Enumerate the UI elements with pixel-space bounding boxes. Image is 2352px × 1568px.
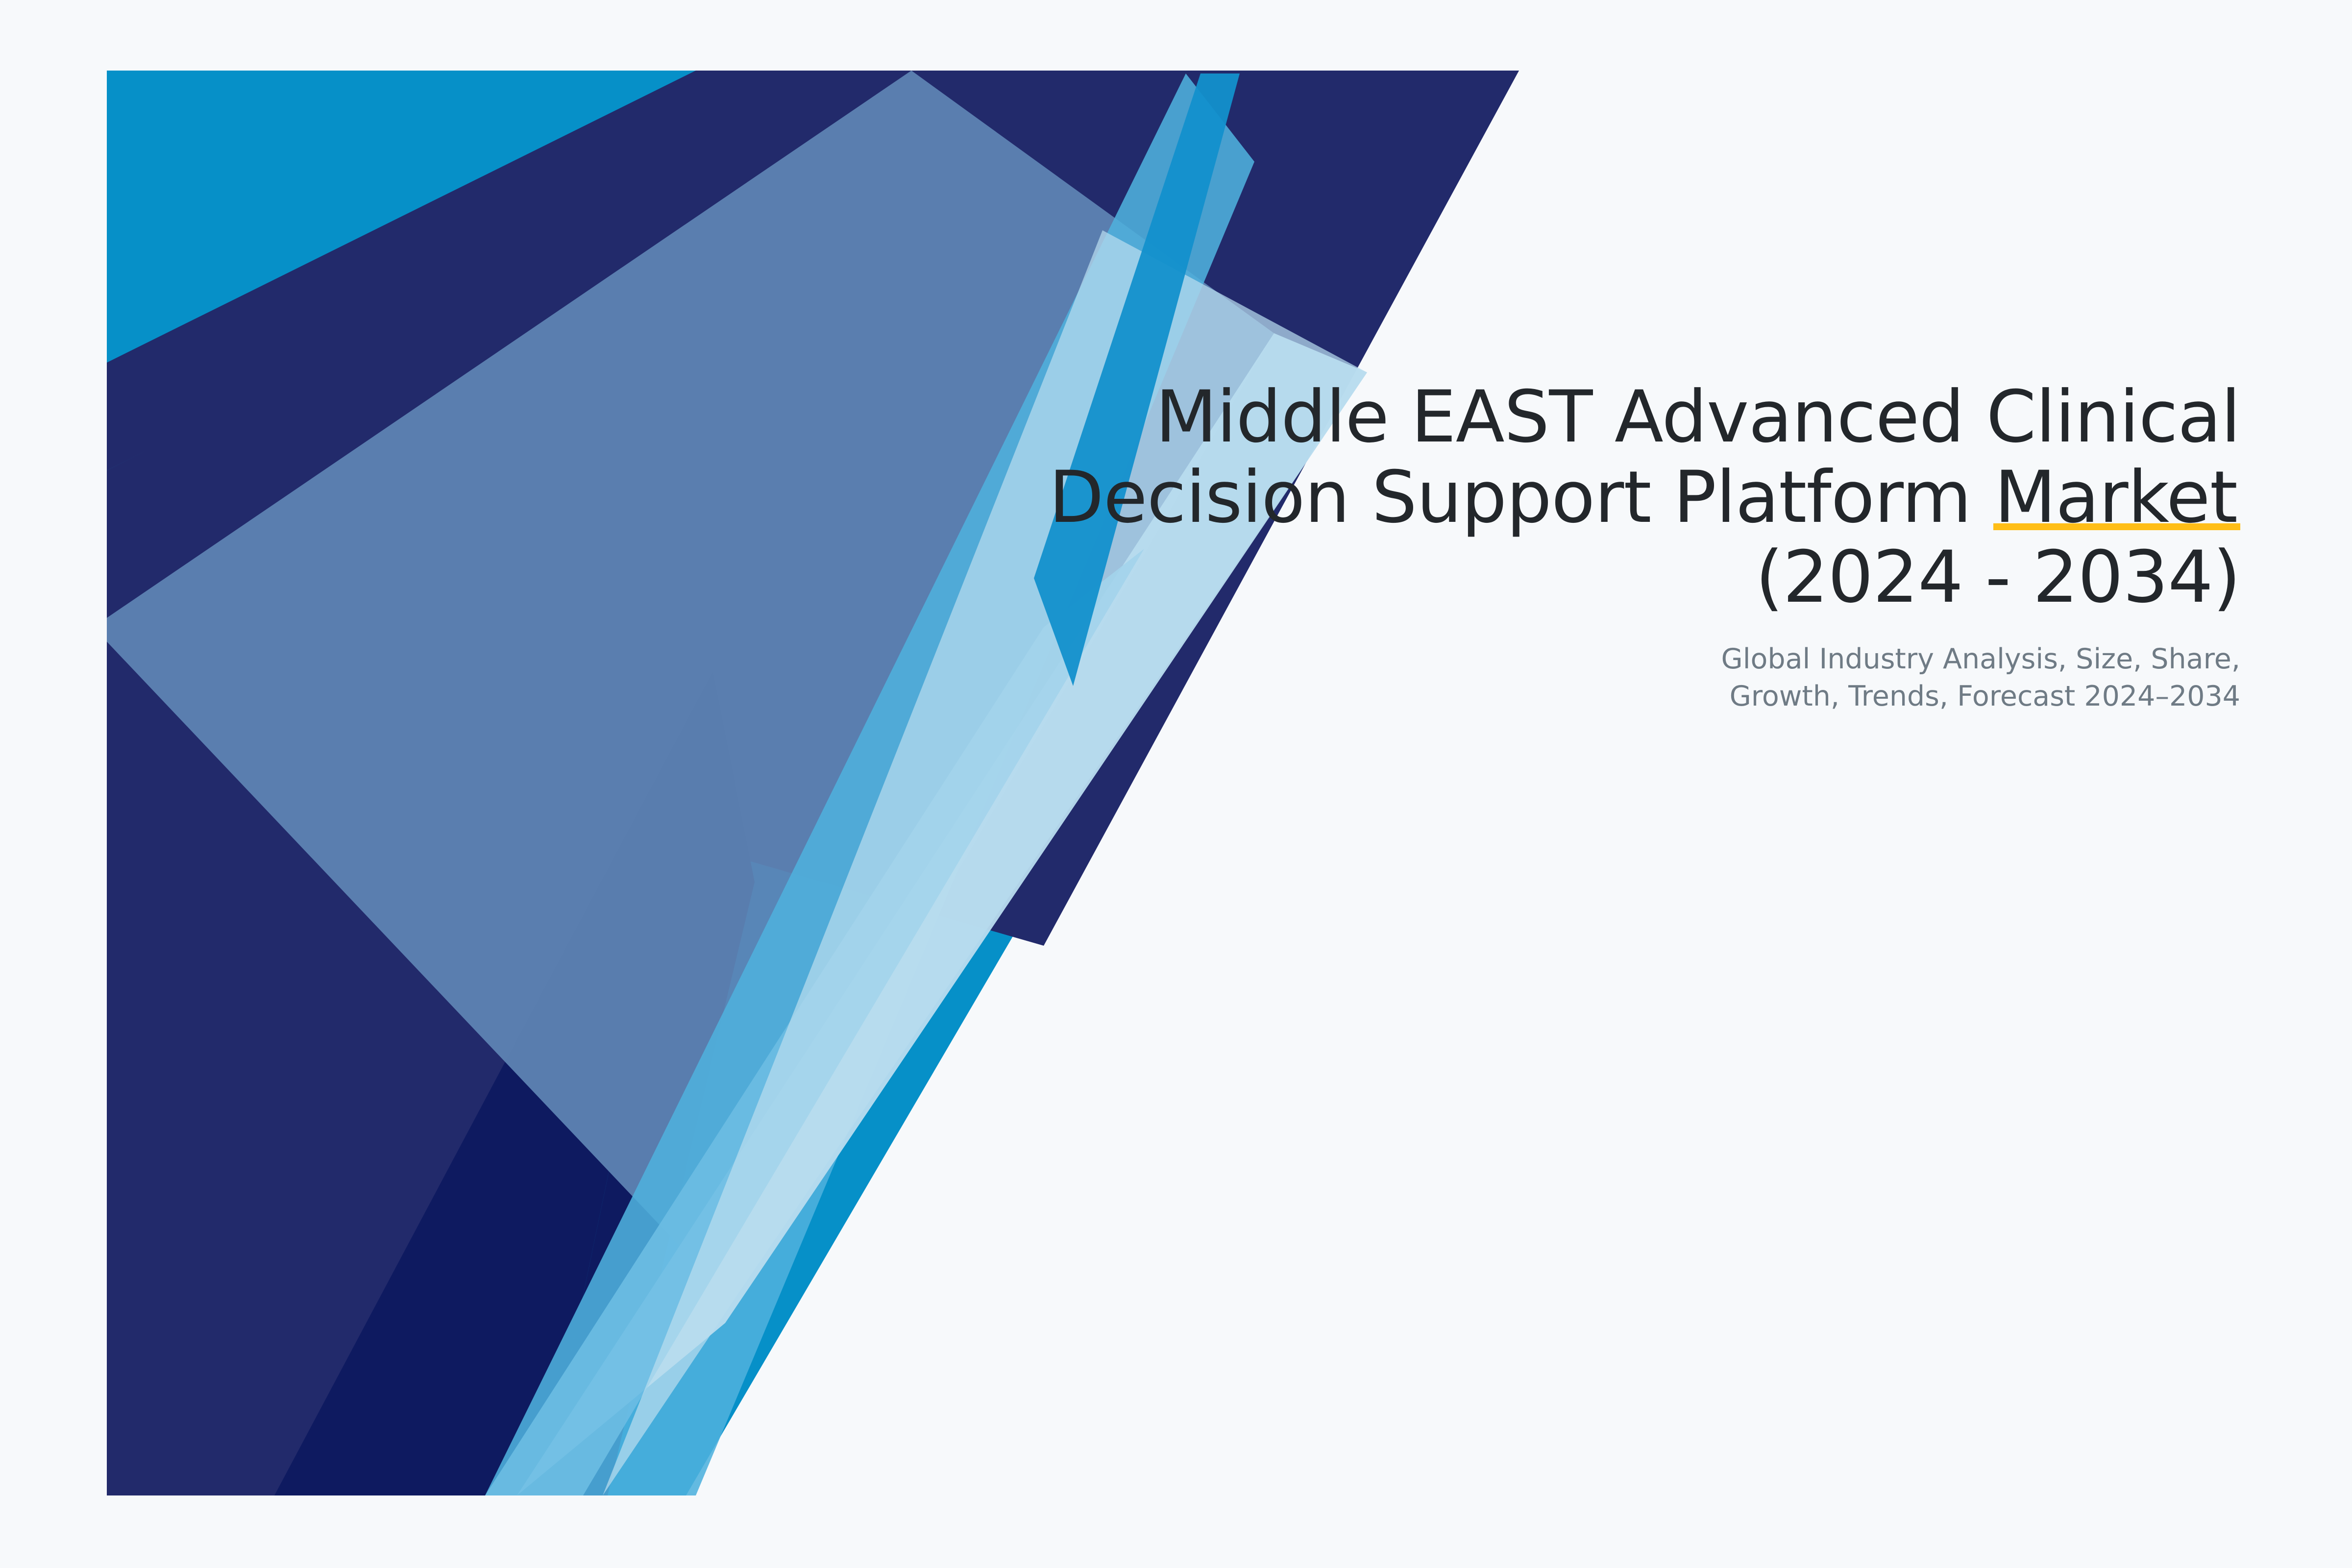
title-line-3: (2024 - 2034) bbox=[966, 538, 2240, 618]
subtitle-line-2: Growth, Trends, Forecast 2024–2034 bbox=[1730, 680, 2240, 712]
page-subtitle: Global Industry Analysis, Size, Share,Gr… bbox=[966, 640, 2240, 715]
abstract-polygon-cover-graphic bbox=[0, 0, 2352, 1568]
title-line-2-text: Decision Support Platform bbox=[1049, 456, 1993, 539]
title-highlight-market: Market bbox=[1993, 456, 2240, 539]
title-line-1: Middle EAST Advanced Clinical bbox=[966, 377, 2240, 458]
subtitle-line-1: Global Industry Analysis, Size, Share, bbox=[1721, 643, 2240, 675]
title-block: Middle EAST Advanced ClinicalDecision Su… bbox=[966, 377, 2240, 715]
page-title: Middle EAST Advanced ClinicalDecision Su… bbox=[966, 377, 2240, 618]
title-line-2: Decision Support Platform Market bbox=[966, 458, 2240, 538]
report-cover: Middle EAST Advanced ClinicalDecision Su… bbox=[0, 0, 2352, 1568]
